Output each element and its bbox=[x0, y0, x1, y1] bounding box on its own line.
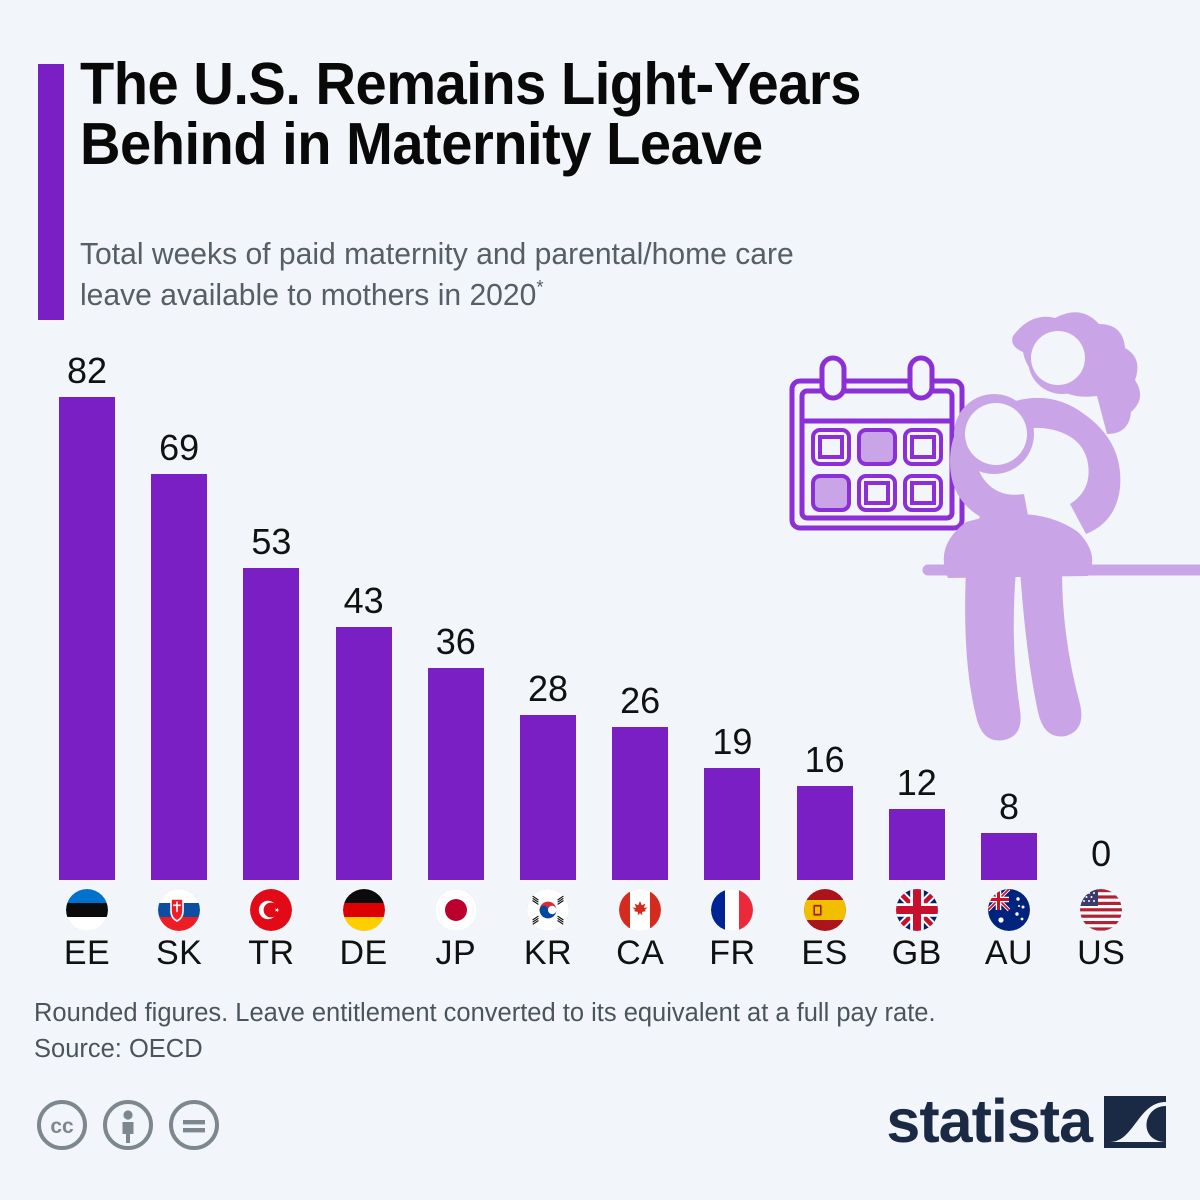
bar-column-ca[interactable]: 26CA bbox=[594, 330, 686, 970]
statista-logo[interactable]: statista bbox=[886, 1091, 1166, 1152]
license-icons: cc bbox=[36, 1099, 220, 1151]
country-code-label: AU bbox=[985, 936, 1033, 970]
bar-column-us[interactable]: 0US bbox=[1055, 330, 1147, 970]
bar-chart: 82EE69SK53TR43DE36JP28KR26CA19FR16ES12GB… bbox=[0, 330, 1200, 970]
bar-value-label: 16 bbox=[805, 742, 845, 778]
bar-value-label: 43 bbox=[344, 583, 384, 619]
subtitle-line-1: Total weeks of paid maternity and parent… bbox=[80, 236, 794, 271]
creative-commons-icon[interactable]: cc bbox=[36, 1099, 88, 1151]
country-code-label: JP bbox=[435, 936, 476, 970]
flag-japan-icon bbox=[435, 889, 477, 931]
flag-turkey-icon bbox=[250, 889, 292, 931]
flag-canada-icon bbox=[619, 889, 661, 931]
country-code-label: KR bbox=[524, 936, 572, 970]
statista-logo-mark bbox=[1104, 1096, 1166, 1148]
bar-jp[interactable] bbox=[428, 668, 484, 880]
bar-sk[interactable] bbox=[151, 474, 207, 880]
bar-value-label: 0 bbox=[1091, 836, 1111, 872]
flag-united-states-icon bbox=[1080, 889, 1122, 931]
country-code-label: ES bbox=[801, 936, 847, 970]
bar-value-label: 19 bbox=[712, 724, 752, 760]
bar-column-de[interactable]: 43DE bbox=[318, 330, 410, 970]
bar-fr[interactable] bbox=[704, 768, 760, 880]
bar-column-au[interactable]: 8AU bbox=[963, 330, 1055, 970]
flag-france-icon bbox=[711, 889, 753, 931]
bar-column-gb[interactable]: 12GB bbox=[871, 330, 963, 970]
country-code-label: GB bbox=[892, 936, 942, 970]
source-line: Source: OECD bbox=[34, 1031, 1174, 1067]
bar-gb[interactable] bbox=[889, 809, 945, 880]
bar-value-label: 53 bbox=[251, 524, 291, 560]
attribution-icon[interactable] bbox=[102, 1099, 154, 1151]
title-line-1: The U.S. Remains Light-Years bbox=[80, 51, 861, 117]
bar-au[interactable] bbox=[981, 833, 1037, 880]
country-code-label: FR bbox=[709, 936, 755, 970]
flag-germany-icon bbox=[343, 889, 385, 931]
bar-value-label: 12 bbox=[897, 765, 937, 801]
flag-spain-icon bbox=[804, 889, 846, 931]
statista-wordmark: statista bbox=[886, 1091, 1092, 1152]
bar-value-label: 69 bbox=[159, 430, 199, 466]
bar-column-ee[interactable]: 82EE bbox=[41, 330, 133, 970]
footnote-marker: * bbox=[536, 278, 543, 299]
bar-es[interactable] bbox=[797, 786, 853, 880]
bar-tr[interactable] bbox=[243, 568, 299, 880]
bar-value-label: 26 bbox=[620, 683, 660, 719]
bar-value-label: 36 bbox=[436, 624, 476, 660]
flag-slovakia-icon bbox=[158, 889, 200, 931]
svg-text:cc: cc bbox=[50, 1115, 74, 1138]
title-accent-bar bbox=[38, 64, 64, 320]
footer: cc statista bbox=[0, 1095, 1200, 1185]
country-code-label: SK bbox=[156, 936, 202, 970]
page-title: The U.S. Remains Light-Years Behind in M… bbox=[80, 54, 1049, 174]
subtitle-line-2: leave available to mothers in 2020* bbox=[80, 274, 1089, 315]
title-line-2: Behind in Maternity Leave bbox=[80, 114, 1049, 174]
country-code-label: TR bbox=[248, 936, 294, 970]
footnote: Rounded figures. Leave entitlement conve… bbox=[34, 995, 1174, 1067]
bar-column-jp[interactable]: 36JP bbox=[410, 330, 502, 970]
flag-south-korea-icon bbox=[527, 889, 569, 931]
subtitle-line-2-text: leave available to mothers in 2020 bbox=[80, 277, 536, 312]
bar-column-fr[interactable]: 19FR bbox=[686, 330, 778, 970]
bar-column-es[interactable]: 16ES bbox=[779, 330, 871, 970]
footnote-line-1: Rounded figures. Leave entitlement conve… bbox=[34, 999, 936, 1027]
bar-value-label: 28 bbox=[528, 671, 568, 707]
bar-value-label: 8 bbox=[999, 789, 1019, 825]
country-code-label: DE bbox=[339, 936, 387, 970]
country-code-label: CA bbox=[616, 936, 664, 970]
country-code-label: US bbox=[1077, 936, 1125, 970]
bar-column-kr[interactable]: 28KR bbox=[502, 330, 594, 970]
bar-kr[interactable] bbox=[520, 715, 576, 880]
no-derivatives-icon[interactable] bbox=[168, 1099, 220, 1151]
bar-column-sk[interactable]: 69SK bbox=[133, 330, 225, 970]
flag-estonia-icon bbox=[66, 889, 108, 931]
bar-ca[interactable] bbox=[612, 727, 668, 880]
bar-ee[interactable] bbox=[59, 397, 115, 880]
bar-column-tr[interactable]: 53TR bbox=[225, 330, 317, 970]
country-code-label: EE bbox=[64, 936, 110, 970]
flag-australia-icon bbox=[988, 889, 1030, 931]
page-subtitle: Total weeks of paid maternity and parent… bbox=[80, 233, 1089, 315]
infographic-canvas: The U.S. Remains Light-Years Behind in M… bbox=[0, 0, 1200, 1200]
bar-de[interactable] bbox=[336, 627, 392, 880]
flag-united-kingdom-icon bbox=[896, 889, 938, 931]
bar-value-label: 82 bbox=[67, 353, 107, 389]
